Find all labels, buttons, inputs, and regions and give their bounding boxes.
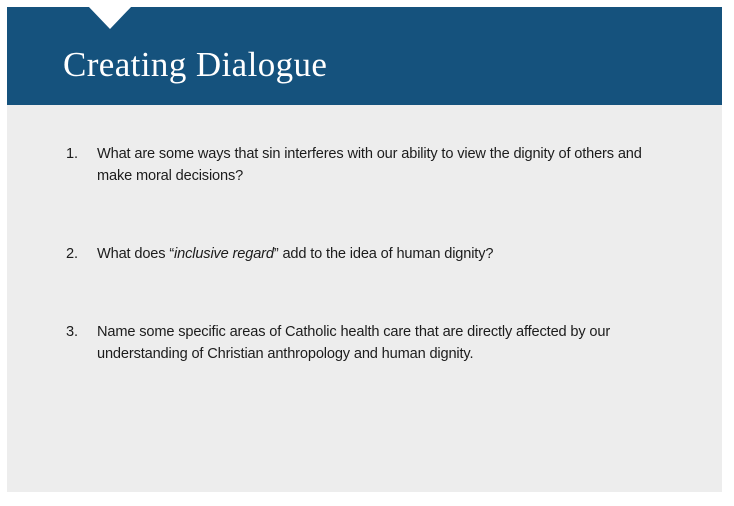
question-text-lead: What does “: [97, 246, 174, 262]
question-text-emphasis: inclusive regard: [174, 246, 274, 262]
list-item: 2. What does “inclusive regard” add to t…: [66, 243, 666, 265]
list-item: 1. What are some ways that sin interfere…: [66, 143, 666, 187]
list-item-text: Name some specific areas of Catholic hea…: [97, 321, 666, 365]
list-item-text: What does “inclusive regard” add to the …: [97, 243, 666, 265]
list-item: 3. Name some specific areas of Catholic …: [66, 321, 666, 365]
question-text-lead: What are some ways that sin interferes w…: [97, 146, 642, 184]
list-item-number: 3.: [66, 321, 90, 343]
slide: Creating Dialogue 1. What are some ways …: [7, 7, 722, 492]
question-text-lead: Name some specific areas of Catholic hea…: [97, 324, 610, 362]
list-item-text: What are some ways that sin interferes w…: [97, 143, 666, 187]
list-item-number: 2.: [66, 243, 90, 265]
list-item-number: 1.: [66, 143, 90, 165]
page-title: Creating Dialogue: [63, 43, 327, 87]
question-text-tail: ” add to the idea of human dignity?: [274, 246, 494, 262]
slide-body: 1. What are some ways that sin interfere…: [7, 105, 722, 492]
question-list: 1. What are some ways that sin interfere…: [66, 143, 666, 365]
slide-header-band: Creating Dialogue: [7, 7, 722, 105]
chevron-notch-icon: [88, 7, 132, 29]
